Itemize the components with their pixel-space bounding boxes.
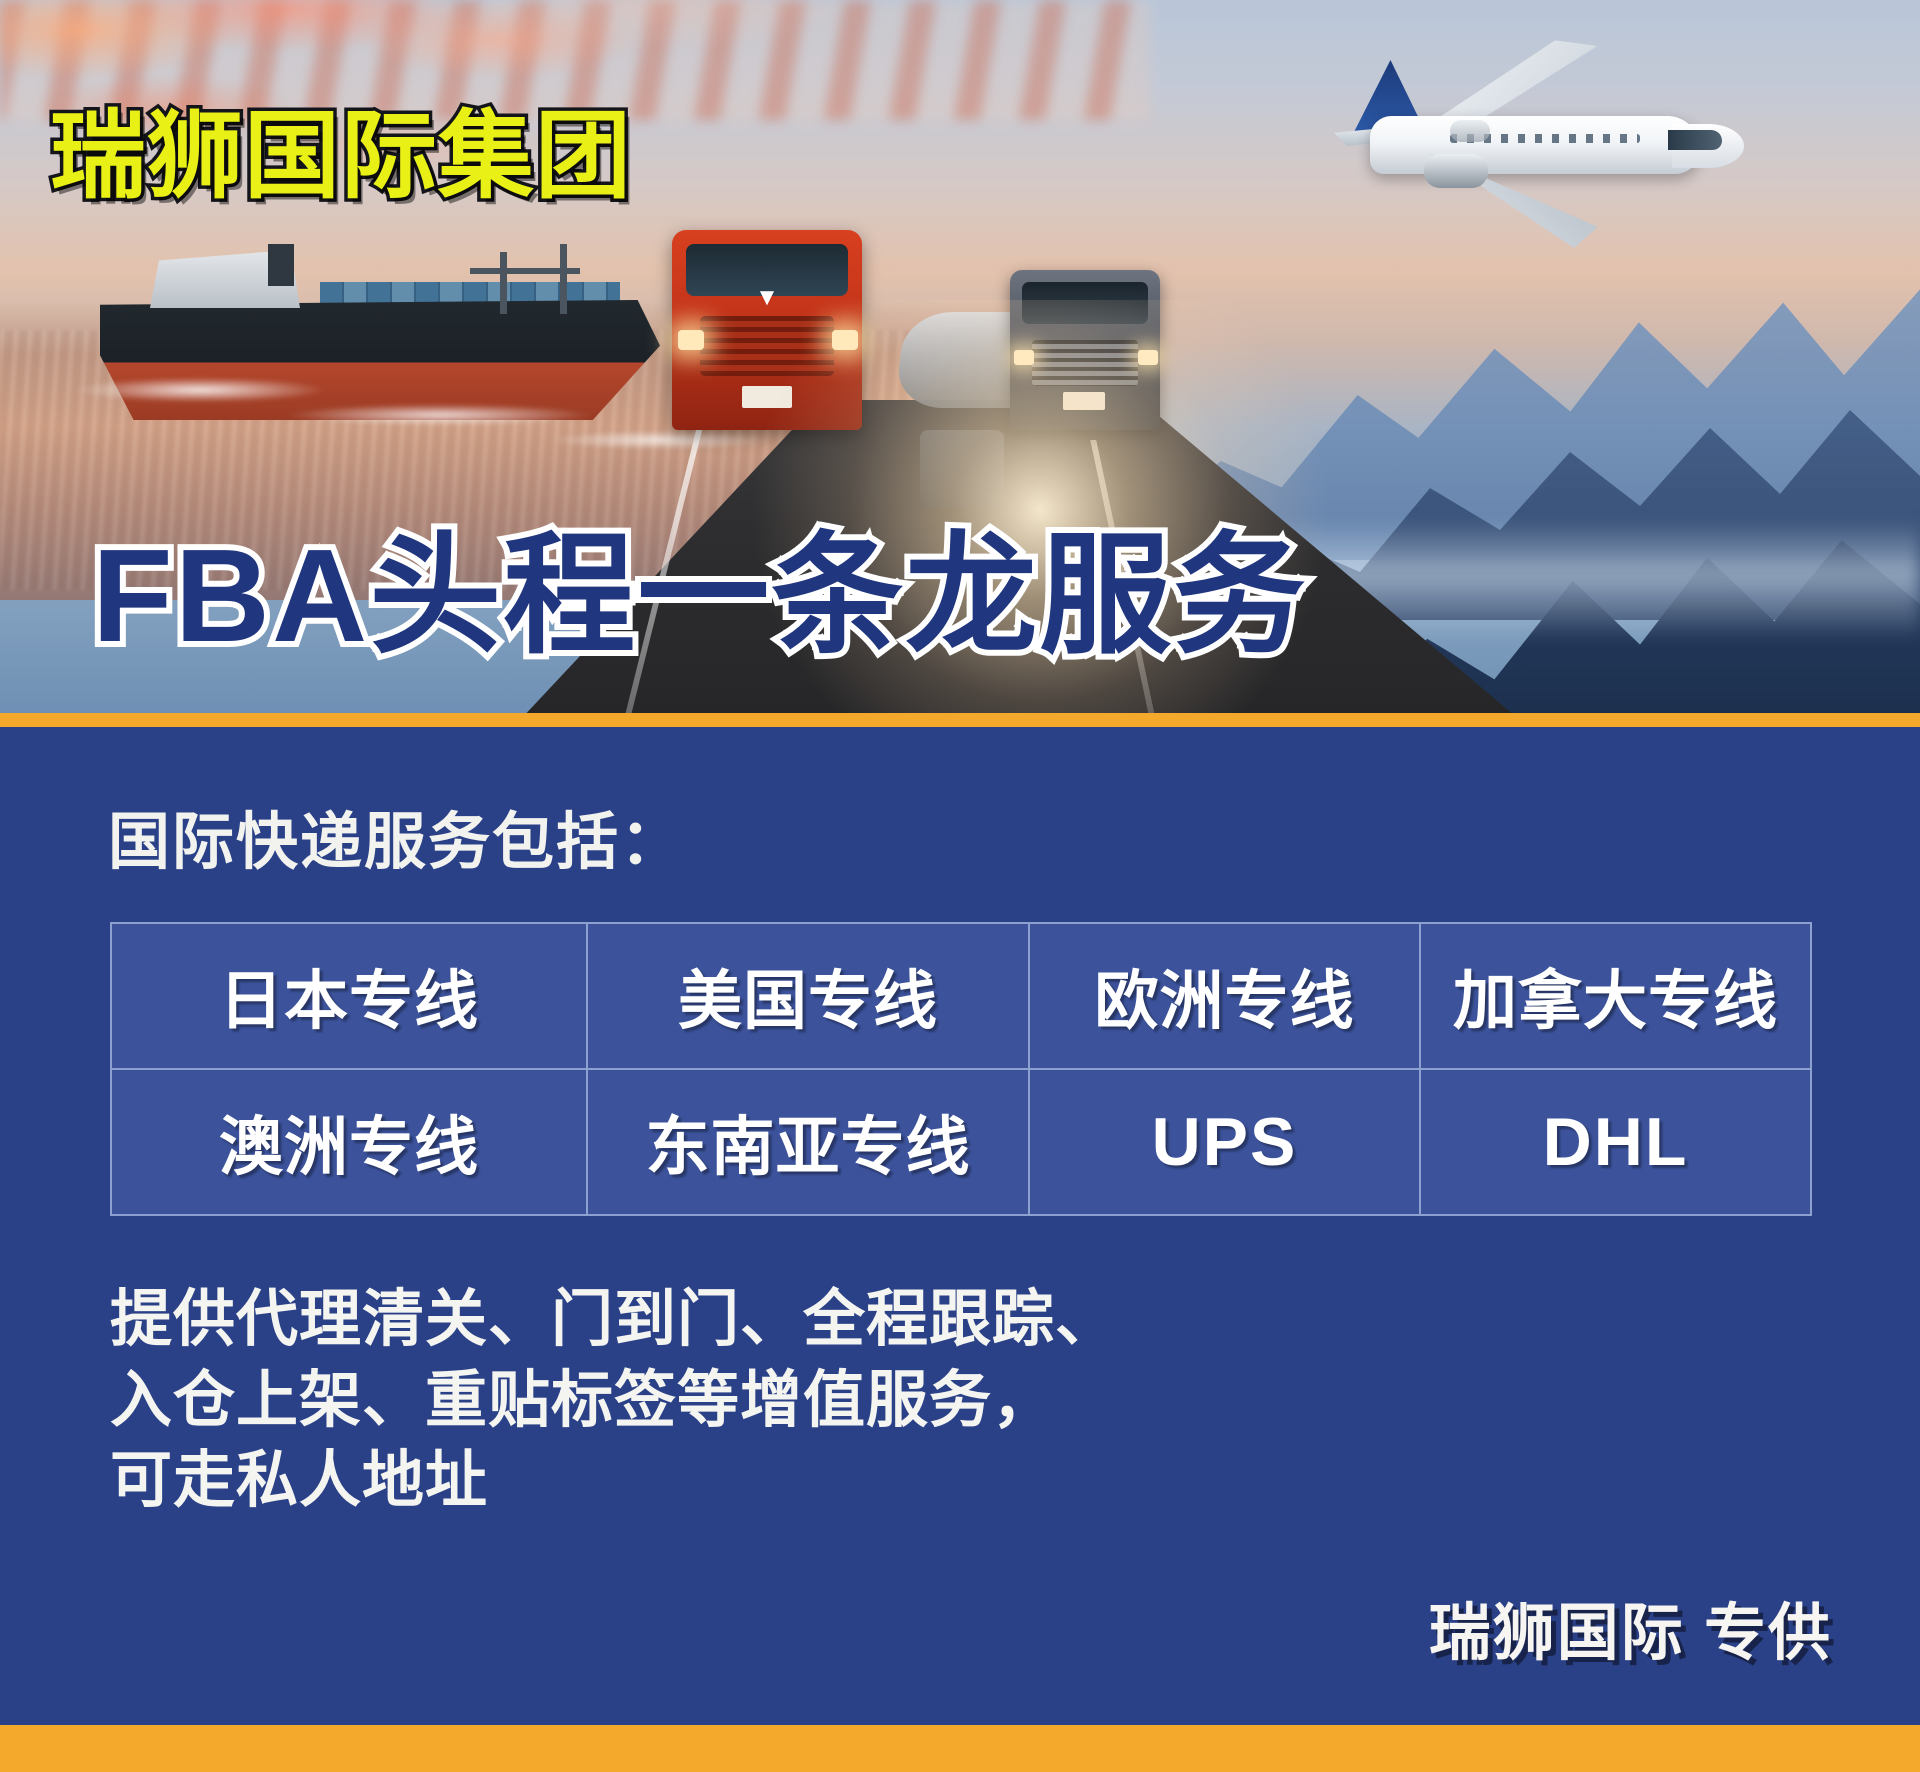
port-crane-icon	[500, 252, 507, 314]
service-cell-usa[interactable]: 美国专线	[587, 923, 1029, 1069]
port-crane-icon	[560, 244, 567, 314]
table-row: 日本专线 美国专线 欧洲专线 加拿大专线	[111, 923, 1811, 1069]
service-cell-ups[interactable]: UPS	[1029, 1069, 1420, 1215]
airplane-engine	[1424, 154, 1488, 188]
airplane-cockpit	[1668, 130, 1722, 150]
info-panel: 国际快递服务包括： 日本专线 美国专线 欧洲专线 加拿大专线 澳洲专线 东南亚专…	[0, 727, 1920, 1725]
company-logo-text: 瑞狮国际集团	[50, 78, 632, 217]
airplane-fuselage	[1370, 116, 1700, 174]
accent-divider-top	[0, 713, 1920, 727]
service-cell-australia[interactable]: 澳洲专线	[111, 1069, 587, 1215]
accent-strip-bottom	[0, 1725, 1920, 1772]
service-lines-table: 日本专线 美国专线 欧洲专线 加拿大专线 澳洲专线 东南亚专线 UPS DHL	[110, 922, 1812, 1216]
hero-photo-collage: ▼ 瑞狮国际集团 FBA头程一条龙服务	[0, 0, 1920, 713]
paragraph-line-2: 入仓上架、重贴标签等增值服务，	[110, 1361, 1118, 1442]
service-cell-southeast-asia[interactable]: 东南亚专线	[587, 1069, 1029, 1215]
port-crane-arm-icon	[470, 268, 580, 274]
paragraph-line-1: 提供代理清关、门到门、全程跟踪、	[110, 1280, 1118, 1361]
promo-banner: ▼ 瑞狮国际集团 FBA头程一条龙服务 国际快递服务包括：	[0, 0, 1920, 1772]
ship-funnel-icon	[268, 244, 294, 286]
service-cell-japan[interactable]: 日本专线	[111, 923, 587, 1069]
airplane-engine	[1450, 120, 1490, 142]
service-cell-dhl[interactable]: DHL	[1420, 1069, 1811, 1215]
table-row: 澳洲专线 东南亚专线 UPS DHL	[111, 1069, 1811, 1215]
paragraph-line-3: 可走私人地址	[110, 1441, 1118, 1522]
hero-headline: FBA头程一条龙服务	[92, 530, 1307, 662]
footer-brand-mark: 瑞狮国际 专供	[1429, 1582, 1832, 1672]
airplane-icon	[1300, 30, 1730, 260]
panel-heading: 国际快递服务包括：	[108, 791, 684, 881]
value-added-services-paragraph: 提供代理清关、门到门、全程跟踪、 入仓上架、重贴标签等增值服务， 可走私人地址	[110, 1280, 1118, 1522]
service-cell-europe[interactable]: 欧洲专线	[1029, 923, 1420, 1069]
service-cell-canada[interactable]: 加拿大专线	[1420, 923, 1811, 1069]
